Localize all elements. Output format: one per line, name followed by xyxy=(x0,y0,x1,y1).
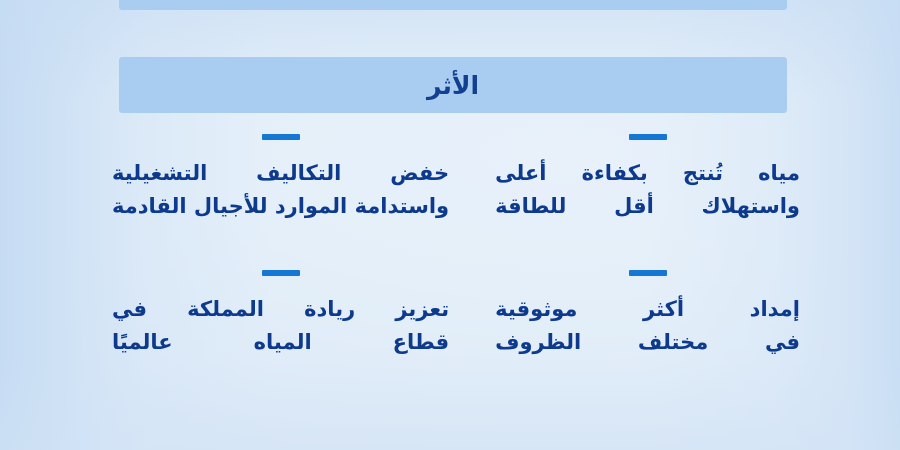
impact-item-global-leadership: تعزيز ريادة المملكة في قطاع المياه عالمي… xyxy=(112,270,449,358)
impact-item-reliability: إمداد أكثر موثوقية في مختلف الظروف xyxy=(495,270,800,358)
impact-item-text: خفض التكاليف التشغيلية واستدامة الموارد … xyxy=(112,157,449,222)
impact-items-grid: مياه تُنتج بكفاءة أعلى واستهلاك أقل للطا… xyxy=(112,134,800,358)
impact-item-text: تعزيز ريادة المملكة في قطاع المياه عالمي… xyxy=(112,293,449,358)
impact-item-efficiency: مياه تُنتج بكفاءة أعلى واستهلاك أقل للطا… xyxy=(495,134,800,222)
impact-item-cost-reduction: خفض التكاليف التشغيلية واستدامة الموارد … xyxy=(112,134,449,222)
accent-dash-icon xyxy=(262,270,300,276)
accent-dash-icon xyxy=(629,134,667,140)
impact-item-line: تعزيز ريادة المملكة في xyxy=(112,293,449,326)
impact-item-text: إمداد أكثر موثوقية في مختلف الظروف xyxy=(495,293,800,358)
impact-item-line: مياه تُنتج بكفاءة أعلى xyxy=(495,157,800,190)
impact-item-line: خفض التكاليف التشغيلية xyxy=(112,157,449,190)
top-banner-strip xyxy=(119,0,787,10)
accent-dash-icon xyxy=(629,270,667,276)
impact-item-line: إمداد أكثر موثوقية xyxy=(495,293,800,326)
impact-item-line: واستدامة الموارد للأجيال القادمة xyxy=(112,190,449,223)
section-title-bar: الأثر xyxy=(119,57,787,113)
impact-item-line: في مختلف الظروف xyxy=(495,326,800,359)
section-title: الأثر xyxy=(427,73,479,98)
impact-item-text: مياه تُنتج بكفاءة أعلى واستهلاك أقل للطا… xyxy=(495,157,800,222)
impact-item-line: قطاع المياه عالميًا xyxy=(112,326,449,359)
impact-item-line: واستهلاك أقل للطاقة xyxy=(495,190,800,223)
accent-dash-icon xyxy=(262,134,300,140)
impact-section-slide: الأثر مياه تُنتج بكفاءة أعلى واستهلاك أق… xyxy=(0,0,900,450)
